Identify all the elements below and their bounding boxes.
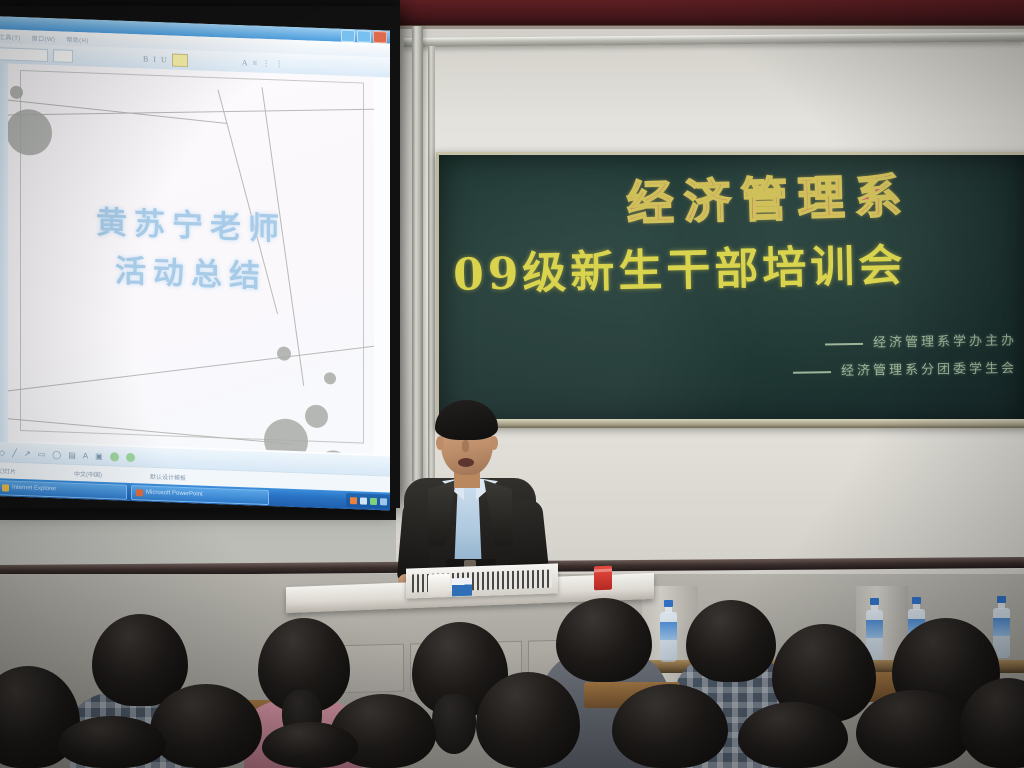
chalkboard-credit-1-text: 经济管理系学办主办 — [873, 333, 1017, 350]
audience-head-front-6 — [738, 702, 848, 768]
italic-icon[interactable]: I — [153, 54, 156, 63]
numbering-icon[interactable]: ⋮ — [275, 59, 283, 68]
bottle-cap-icon — [870, 598, 879, 605]
bottle-label — [660, 622, 677, 640]
presenter-nose — [462, 440, 469, 452]
highlight-icon[interactable] — [172, 53, 188, 67]
minimize-icon[interactable] — [341, 30, 355, 43]
presenter-mouth — [458, 458, 474, 467]
wordart-icon[interactable]: A — [83, 451, 88, 460]
font-color-icon[interactable]: A — [242, 58, 248, 67]
arrow-icon[interactable]: ↗ — [24, 449, 31, 458]
fill-color-icon[interactable]: ▣ — [95, 451, 103, 460]
shadow-icon[interactable] — [110, 452, 119, 461]
water-bottle-4 — [993, 596, 1010, 658]
status-language: 中文(中国) — [74, 468, 102, 478]
powerpoint-icon — [136, 489, 143, 496]
presenter-ear-left — [436, 436, 444, 450]
menu-item-tools[interactable]: 工具(T) — [0, 32, 21, 42]
taskbar-item-powerpoint-label: Microsoft PowerPoint — [146, 490, 203, 498]
slide-circle-1 — [10, 86, 23, 99]
audience-head-front-2 — [150, 684, 262, 768]
volume-icon[interactable] — [350, 497, 357, 504]
audience-ponytail-2 — [432, 694, 476, 754]
line-icon[interactable]: ╱ — [12, 448, 17, 457]
audience-head-front-9 — [58, 716, 166, 768]
paper-cup — [428, 574, 450, 597]
audience-head-front-7 — [856, 690, 972, 768]
slide-canvas[interactable]: 黄苏宁老师 活动总结 — [8, 64, 374, 454]
wall-top-band — [400, 0, 1024, 26]
close-icon[interactable] — [373, 31, 387, 44]
presenter-hair — [435, 400, 498, 440]
projection-screen: 工具(T) 窗口(W) 帮助(H) B I U A ≡ ⋮ ⋮ — [0, 6, 400, 508]
taskbar-item-powerpoint[interactable]: Microsoft PowerPoint — [131, 485, 269, 505]
lecture-hall-photo: 工具(T) 窗口(W) 帮助(H) B I U A ≡ ⋮ ⋮ — [0, 0, 1024, 768]
projected-image: 工具(T) 窗口(W) 帮助(H) B I U A ≡ ⋮ ⋮ — [0, 16, 390, 511]
credit-dash-icon-2 — [793, 371, 831, 374]
outline-pane[interactable] — [0, 63, 8, 443]
slide-circle-4 — [324, 372, 336, 384]
bottle-cap-icon — [997, 596, 1006, 603]
slide-circle-5 — [305, 404, 328, 428]
pen-icon[interactable] — [360, 497, 367, 504]
red-can — [594, 566, 612, 591]
menu-item-window[interactable]: 窗口(W) — [32, 33, 56, 43]
slide-circle-3 — [277, 346, 291, 361]
network-icon[interactable] — [380, 498, 387, 505]
credit-dash-icon — [825, 342, 863, 345]
taskbar-item-ie[interactable]: Internet Explorer — [0, 480, 127, 500]
blue-box-item — [452, 578, 472, 597]
chalkboard-subtitle: 09级新生干部培训会 — [452, 227, 1013, 303]
bullets-icon[interactable]: ⋮ — [262, 58, 270, 67]
maximize-icon[interactable] — [357, 30, 371, 43]
audience-head-back-1 — [556, 598, 652, 682]
chalkboard: 经济管理系 09级新生干部培训会 经济管理系学办主办 经济管理系分团委学生会 — [436, 152, 1024, 428]
autoshapes-icon[interactable]: ◇ — [0, 448, 5, 457]
rectangle-icon[interactable]: ▭ — [38, 449, 46, 458]
status-template: 默认设计模板 — [150, 471, 186, 481]
audience-head-front-10 — [262, 722, 358, 768]
audience-head-back-2 — [686, 600, 776, 682]
audience-head-front-5 — [612, 684, 728, 768]
bottle-label — [866, 620, 883, 638]
ie-icon — [2, 484, 9, 491]
bottle-label — [993, 618, 1010, 636]
chalkboard-credit-2-text: 经济管理系分团委学生会 — [841, 361, 1017, 379]
taskbar-item-ie-label: Internet Explorer — [12, 485, 56, 493]
font-name-box[interactable] — [0, 47, 48, 62]
bold-icon[interactable]: B — [143, 54, 148, 63]
chalkboard-title: 经济管理系 — [558, 155, 980, 236]
align-icon[interactable]: ≡ — [253, 58, 258, 67]
bottle-cap-icon — [912, 597, 921, 604]
ime-icon[interactable] — [370, 497, 377, 504]
status-slide-label: 幻灯片 — [0, 466, 16, 476]
3d-icon[interactable] — [126, 452, 135, 461]
system-tray[interactable] — [346, 493, 390, 509]
oval-icon[interactable]: ◯ — [52, 450, 61, 459]
audience-head-front-4 — [476, 672, 580, 768]
chalkboard-credit-2: 经济管理系分团委学生会 — [793, 357, 1017, 380]
bottle-cap-icon — [664, 600, 673, 607]
presenter — [398, 392, 548, 592]
menu-item-help[interactable]: 帮助(H) — [66, 34, 88, 44]
chalkboard-credit-1: 经济管理系学办主办 — [825, 329, 1017, 351]
font-size-box[interactable] — [53, 49, 73, 63]
water-bottle-1 — [660, 600, 677, 662]
slide-title-block: 黄苏宁老师 活动总结 — [8, 199, 374, 302]
powerpoint-window: 工具(T) 窗口(W) 帮助(H) B I U A ≡ ⋮ ⋮ — [0, 16, 390, 511]
underline-icon[interactable]: U — [161, 55, 167, 64]
textbox-icon[interactable]: ▤ — [68, 450, 76, 459]
presenter-ear-right — [490, 436, 498, 450]
